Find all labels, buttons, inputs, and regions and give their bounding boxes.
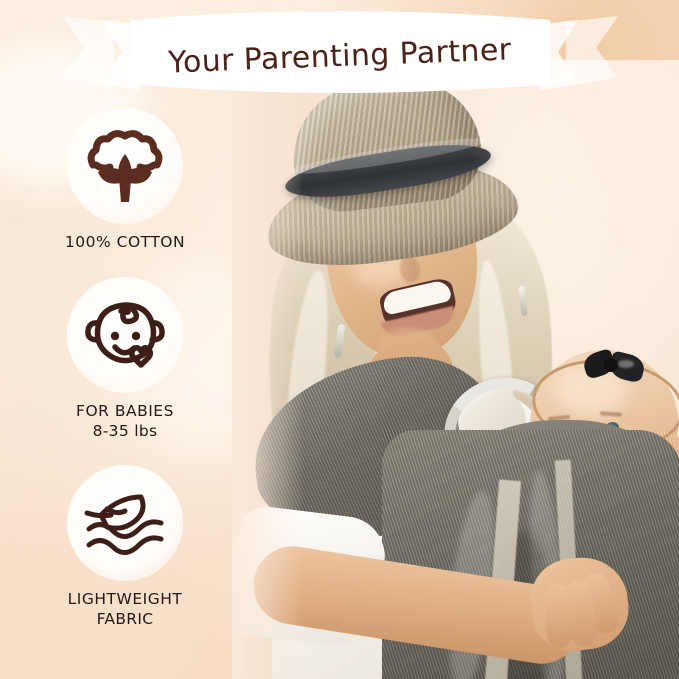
feature-label-text: 100% COTTON bbox=[65, 233, 185, 251]
feature-icon-circle bbox=[67, 108, 183, 224]
fabric-wave-bottom-icon bbox=[89, 538, 161, 553]
feather-fabric-icon bbox=[79, 479, 171, 567]
finger bbox=[545, 584, 573, 649]
feature-label: FOR BABIES 8-35 lbs bbox=[0, 402, 250, 442]
feature-sublabel-text: FABRIC bbox=[0, 610, 250, 630]
baby-bow-knot bbox=[604, 358, 618, 372]
baby-bow-shine bbox=[618, 360, 634, 368]
feature-label: LIGHTWEIGHT FABRIC bbox=[0, 590, 250, 630]
cotton-stem-icon bbox=[118, 154, 132, 202]
feather-quill-icon bbox=[87, 513, 111, 516]
banner: Your Parenting Partner bbox=[62, 6, 618, 98]
feature-label-text: FOR BABIES bbox=[76, 402, 174, 420]
feature-item-lightweight: LIGHTWEIGHT FABRIC bbox=[0, 465, 250, 630]
feature-item-cotton: 100% COTTON bbox=[0, 108, 250, 253]
page-title: Your Parenting Partner bbox=[168, 32, 512, 80]
lifestyle-photo bbox=[232, 60, 679, 679]
cotton-boll-icon bbox=[81, 122, 169, 210]
feature-label-text: LIGHTWEIGHT bbox=[68, 590, 183, 608]
feature-sublabel-text: 8-35 lbs bbox=[0, 422, 250, 442]
feature-item-babies: FOR BABIES 8-35 lbs bbox=[0, 277, 250, 442]
banner-title-wrap: Your Parenting Partner bbox=[62, 6, 618, 98]
feature-icon-circle bbox=[67, 465, 183, 581]
product-infographic: Your Parenting Partner 10 bbox=[0, 0, 679, 679]
baby-eye-right-icon bbox=[132, 332, 140, 340]
baby-face-icon bbox=[81, 291, 169, 379]
baby-eye-left-icon bbox=[111, 332, 119, 340]
feature-list: 100% COTTON F bbox=[0, 108, 250, 654]
feature-label: 100% COTTON bbox=[0, 233, 250, 253]
feature-icon-circle bbox=[67, 277, 183, 393]
